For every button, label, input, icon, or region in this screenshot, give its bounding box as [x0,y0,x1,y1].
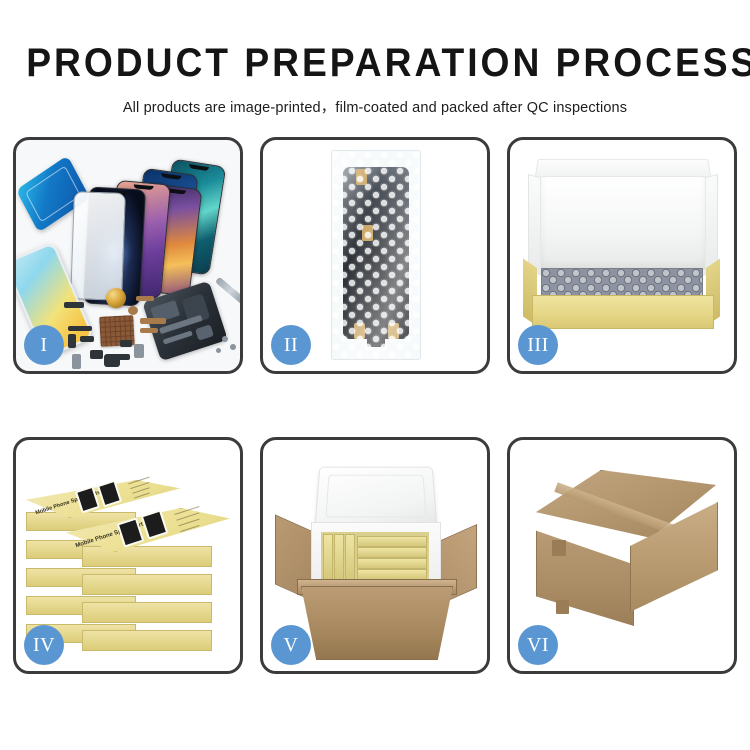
stacked-box [82,602,212,623]
coil-part [106,288,126,308]
camera-part [72,354,81,369]
screw-part [222,336,228,342]
step-panel-3: III [507,137,737,374]
flex-part [128,306,138,315]
styrofoam-lid [314,467,437,528]
stacked-box [82,546,212,567]
product-preparation-infographic: PRODUCT PREPARATION PROCESS All products… [0,0,750,750]
flex-part [136,296,154,301]
screw-part [216,348,221,353]
flex-part [90,350,103,359]
stacked-box [82,630,212,651]
vibrator-part [134,344,144,358]
step-badge-2: II [271,325,311,365]
process-steps-grid: I II [13,137,737,688]
step-badge-6: VI [518,625,558,665]
stacked-box [82,574,212,595]
carton-tab [552,540,566,556]
tempered-glass-sheet [70,191,126,301]
flex-part [80,336,94,342]
step-panel-6: VI [507,437,737,674]
page-title: PRODUCT PREPARATION PROCESS [26,0,724,83]
step-badge-1: I [24,325,64,365]
flex-part [64,302,84,308]
foam-sheet [540,176,706,270]
screw-part [230,344,236,350]
page-subtitle: All products are image-printed，film-coat… [0,83,750,117]
flex-part [120,340,132,347]
flex-part [116,354,130,360]
step-panel-4: Mobile Phone Spare Parts Mobile Phone [13,437,243,674]
screwdriver-tool [215,277,240,311]
step-badge-3: III [518,325,558,365]
carton-body [301,586,453,660]
step-badge-5: V [271,625,311,665]
step-panel-2: II [260,137,490,374]
step-panel-1: I [13,137,243,374]
step-panel-5: V [260,437,490,674]
yellow-boxes-inside [321,532,429,580]
bubble-wrap-bag [331,150,421,360]
step-badge-4: IV [24,625,64,665]
carton-tab [556,600,569,614]
bag-sheen [332,151,420,359]
flex-part [68,326,92,331]
carton-front-face [536,520,634,626]
header: PRODUCT PREPARATION PROCESS All products… [0,0,750,117]
flex-part [140,318,166,324]
flex-part [140,328,158,333]
flex-part [68,334,76,348]
kraft-box-front [532,295,714,329]
